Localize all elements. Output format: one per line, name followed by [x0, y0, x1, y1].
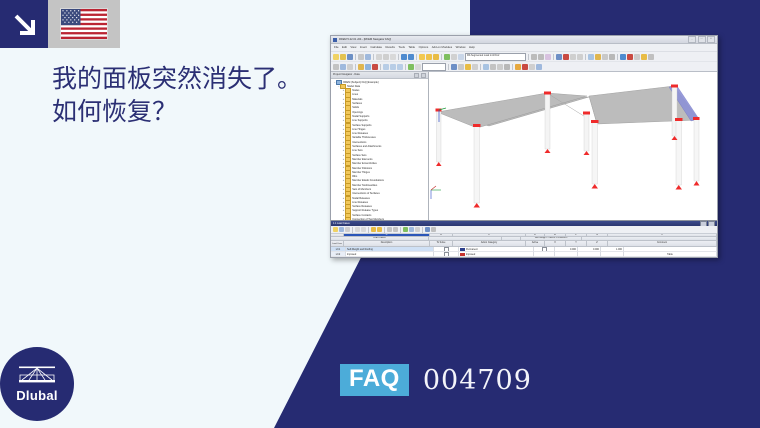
- app-icon: [333, 38, 337, 42]
- cell-comment[interactable]: Table: [624, 252, 717, 257]
- menu-item-insert[interactable]: Insert: [360, 46, 367, 49]
- headline-line-2: 如何恢复？: [52, 95, 352, 128]
- toolbar-separator: [416, 54, 417, 60]
- project-navigator-panel[interactable]: Project Navigator - Data − RFEM (Subject…: [331, 72, 429, 220]
- layers-icon[interactable]: [602, 54, 608, 60]
- arrow-down-right-icon: [0, 0, 48, 48]
- rfem-application-window[interactable]: RFEM 5.22.01 x64 - [RFEM Navigator FAQ] …: [330, 35, 718, 258]
- member-icon[interactable]: [365, 64, 371, 70]
- table-new-row-icon[interactable]: [333, 227, 338, 232]
- load-case-selector[interactable]: [422, 63, 446, 71]
- model-view-3d[interactable]: [429, 72, 717, 220]
- table-redo-icon[interactable]: [393, 227, 398, 232]
- page-title: 我的面板突然消失了。 如何恢复？: [52, 62, 352, 128]
- checkbox-icon[interactable]: [444, 252, 449, 257]
- workspace: Project Navigator - Data − RFEM (Subject…: [331, 72, 717, 220]
- grid-toggle-icon[interactable]: [588, 54, 594, 60]
- toolbar-separator: [617, 54, 618, 60]
- table-export-excel-icon[interactable]: [409, 227, 414, 232]
- menu-bar[interactable]: File Edit View Insert Calculate Results …: [331, 44, 717, 52]
- table-row[interactable]: LC2 Imposed Imposed Table: [331, 252, 717, 257]
- copy-icon[interactable]: [383, 54, 389, 60]
- dimension-icon[interactable]: [627, 54, 633, 60]
- navigator-tree[interactable]: − RFEM (Subject) FAQ [Example] − Model D…: [331, 79, 428, 220]
- max-min-icon[interactable]: [522, 64, 528, 70]
- tree-item-label: Surface Sets: [352, 154, 366, 157]
- tree-item-label: Member Hinges: [352, 171, 370, 174]
- tree-item-label: Nodal Releases: [352, 197, 370, 200]
- tree-item-label: Line Sets: [352, 149, 362, 152]
- toolbar-separator: [368, 227, 369, 233]
- menu-item-addon-modules[interactable]: Add-on Modules: [432, 46, 452, 49]
- deformation-icon[interactable]: [451, 64, 457, 70]
- close-button[interactable]: ✕: [707, 36, 715, 43]
- toolbar-separator: [355, 64, 356, 70]
- front-view-icon[interactable]: [570, 54, 576, 60]
- cell-action-category-label: Permanent: [466, 248, 478, 251]
- toolbar-separator: [384, 227, 385, 233]
- cell-y[interactable]: [578, 252, 601, 257]
- load-line-icon[interactable]: [390, 64, 396, 70]
- toolbar-separator: [512, 64, 513, 70]
- navigator-close-icon[interactable]: [421, 73, 426, 78]
- menu-item-view[interactable]: View: [350, 46, 356, 49]
- cell-action-category-label: Imposed: [466, 253, 475, 256]
- node-icon[interactable]: [340, 64, 346, 70]
- tree-item-label: Member Eccentricities: [352, 162, 377, 165]
- select-icon[interactable]: [333, 64, 339, 70]
- toolbar-separator: [480, 64, 481, 70]
- tree-item-label: Surfaces: [352, 102, 362, 105]
- minimize-button[interactable]: _: [688, 36, 696, 43]
- tree-item-label: Surface Supports: [352, 124, 371, 127]
- tree-item-label: Member Divisions: [352, 167, 372, 170]
- export-icon[interactable]: [536, 64, 542, 70]
- toolbar-separator: [352, 227, 353, 233]
- cell-to-solve[interactable]: [434, 252, 459, 257]
- language-flag-box: [48, 0, 120, 48]
- zoom-in-icon[interactable]: [531, 54, 537, 60]
- faq-number: 004709: [423, 365, 532, 396]
- maximize-button[interactable]: □: [698, 36, 706, 43]
- tree-item-label: Connection of Two Members: [352, 218, 384, 220]
- toolbar-separator: [405, 64, 406, 70]
- table-edit-icon[interactable]: [339, 227, 344, 232]
- toolbar-separator: [400, 227, 401, 233]
- toolbar-separator: [398, 54, 399, 60]
- stress-icon[interactable]: [465, 64, 471, 70]
- new-file-icon[interactable]: [333, 54, 339, 60]
- load-nodal-icon[interactable]: [383, 64, 389, 70]
- table-undo-icon[interactable]: [387, 227, 392, 232]
- paste-icon[interactable]: [390, 54, 396, 60]
- toolbar-separator: [422, 227, 423, 233]
- checkbox-checked-icon[interactable]: [444, 247, 449, 252]
- result-filter-icon[interactable]: [497, 64, 503, 70]
- cell-active[interactable]: [534, 252, 555, 257]
- tree-root-label: RFEM (Subject) FAQ [Example]: [343, 81, 378, 84]
- toolbar-separator: [373, 54, 374, 60]
- table-paste-icon[interactable]: [361, 227, 366, 232]
- checkbox-checked-icon[interactable]: [542, 247, 547, 252]
- line-icon[interactable]: [347, 64, 353, 70]
- tree-item-label: Solids: [352, 106, 359, 109]
- tree-item-label: Nodal Supports: [352, 115, 369, 118]
- table-panel-title: 1.1 Load Cases: [333, 222, 350, 225]
- save-icon[interactable]: [347, 54, 353, 60]
- faq-block: FAQ 004709: [340, 364, 532, 396]
- model-geometry: [429, 72, 717, 220]
- toolbar-separator: [553, 54, 554, 60]
- printout-report-icon[interactable]: [641, 54, 647, 60]
- navigator-controls[interactable]: [414, 73, 426, 78]
- table-toolbar[interactable]: [331, 226, 717, 234]
- generate-mesh-icon[interactable]: [408, 64, 414, 70]
- calculate-icon[interactable]: [444, 54, 450, 60]
- cut-icon[interactable]: [376, 54, 382, 60]
- surface-icon[interactable]: [358, 64, 364, 70]
- tree-item-label: Ribs: [352, 175, 357, 178]
- menu-item-help[interactable]: Help: [469, 46, 475, 49]
- dlubal-truss-logo-icon: [17, 365, 57, 387]
- toolbar-separator: [380, 64, 381, 70]
- mesh-settings-icon[interactable]: [415, 64, 421, 70]
- pan-icon[interactable]: [545, 54, 551, 60]
- table-filter-icon[interactable]: [371, 227, 376, 232]
- navigator-header: Project Navigator - Data: [331, 72, 428, 79]
- toolbar-separator: [441, 54, 442, 60]
- wireframe-icon[interactable]: [426, 54, 432, 60]
- tree-item-label: Surface Releases: [352, 205, 372, 208]
- dlubal-logo: Dlubal: [0, 347, 74, 421]
- corner-accent-box: [0, 0, 48, 48]
- open-file-icon[interactable]: [340, 54, 346, 60]
- table-panel[interactable]: 1.1 Load Cases: [331, 220, 717, 258]
- menu-item-results[interactable]: Results: [386, 46, 395, 49]
- top-view-icon[interactable]: [577, 54, 583, 60]
- category-color-swatch: [460, 248, 465, 251]
- tree-item-label: Nodes: [352, 89, 359, 92]
- comment-icon[interactable]: [634, 54, 640, 60]
- toolbar-separator: [448, 64, 449, 70]
- toolbar-separator: [528, 54, 529, 60]
- help-icon[interactable]: [648, 54, 654, 60]
- menu-item-calculate[interactable]: Calculate: [370, 46, 382, 49]
- cell-x[interactable]: [555, 252, 578, 257]
- tree-item-label: Line Supports: [352, 119, 367, 122]
- print-preview-icon[interactable]: [365, 54, 371, 60]
- tree-item-label: Line Hinges: [352, 128, 365, 131]
- menu-item-edit[interactable]: Edit: [342, 46, 347, 49]
- menu-item-table[interactable]: Table: [408, 46, 415, 49]
- table-help-icon[interactable]: [431, 227, 436, 232]
- window-titlebar: RFEM 5.22.01 x64 - [RFEM Navigator FAQ] …: [331, 36, 717, 44]
- result-diagram-icon[interactable]: [483, 64, 489, 70]
- table-copy-icon[interactable]: [355, 227, 360, 232]
- cell-description[interactable]: Imposed: [346, 252, 434, 257]
- tree-item-label: Sets of Members: [352, 188, 371, 191]
- contact-stress-icon[interactable]: [472, 64, 478, 70]
- tree-item-label: Intersections of Surfaces: [352, 192, 380, 195]
- print-icon[interactable]: [358, 54, 364, 60]
- snap-toggle-icon[interactable]: [595, 54, 601, 60]
- redo-icon[interactable]: [408, 54, 414, 60]
- cell-action-category[interactable]: Imposed: [459, 252, 534, 257]
- table-settings-icon[interactable]: [425, 227, 430, 232]
- tree-item-label: Openings: [352, 111, 363, 114]
- menu-item-window[interactable]: Window: [456, 46, 466, 49]
- tree-item-label: Member Nonlinearities: [352, 184, 377, 187]
- internal-forces-icon[interactable]: [458, 64, 464, 70]
- menu-item-options[interactable]: Options: [419, 46, 429, 49]
- load-case-icon[interactable]: [458, 54, 464, 60]
- load-cases-grid[interactable]: A B C D E F G H Load Cases Self-Weight -…: [331, 234, 717, 258]
- table-print-icon[interactable]: [415, 227, 420, 232]
- cell-z[interactable]: [601, 252, 624, 257]
- table-icon[interactable]: [529, 64, 535, 70]
- solid-view-icon[interactable]: [433, 54, 439, 60]
- global-axis-indicator: [431, 186, 441, 199]
- section-icon[interactable]: [504, 64, 510, 70]
- toolbar-primary[interactable]: RF-Segmented Load in kN/m2: [331, 52, 717, 62]
- faq-badge: FAQ: [340, 364, 409, 396]
- result-value-icon[interactable]: [490, 64, 496, 70]
- slide-canvas: 我的面板突然消失了。 如何恢复？: [0, 0, 760, 428]
- load-case-combo[interactable]: RF-Segmented Load in kN/m2: [465, 53, 526, 61]
- rotate-icon[interactable]: [556, 54, 562, 60]
- headline-line-1: 我的面板突然消失了。: [52, 62, 352, 95]
- tree-item-label: Variable Thicknesses: [352, 136, 376, 139]
- window-title: RFEM 5.22.01 x64 - [RFEM Navigator FAQ]: [339, 38, 391, 41]
- cell-load-case-no[interactable]: LC2: [331, 252, 346, 257]
- measure-icon[interactable]: [620, 54, 626, 60]
- navigator-title: Project Navigator - Data: [333, 73, 360, 76]
- category-color-swatch: [460, 253, 465, 256]
- menu-item-file[interactable]: File: [334, 46, 339, 49]
- tree-item-label: Lines: [352, 93, 358, 96]
- tree-item-label: Line Releases: [352, 201, 368, 204]
- tree-item-label: Line Releases: [352, 132, 368, 135]
- tree-item-label: Member Elements: [352, 158, 372, 161]
- tree-item-label: Surface Contacts: [352, 214, 371, 217]
- render-icon[interactable]: [419, 54, 425, 60]
- table-calculate-icon[interactable]: [403, 227, 408, 232]
- animation-icon[interactable]: [515, 64, 521, 70]
- toolbar-secondary[interactable]: [331, 62, 717, 72]
- load-surface-icon[interactable]: [397, 64, 403, 70]
- window-controls[interactable]: _ □ ✕: [688, 36, 715, 43]
- toolbar-separator: [355, 54, 356, 60]
- table-sort-icon[interactable]: [377, 227, 382, 232]
- tree-item-label: Surfaces and Attachments: [352, 145, 381, 148]
- navigator-pin-icon[interactable]: [414, 73, 419, 78]
- zoom-out-icon[interactable]: [538, 54, 544, 60]
- us-flag-icon: [61, 9, 107, 39]
- tree-item-label: Materials: [352, 98, 362, 101]
- folder-icon: [345, 217, 351, 220]
- menu-item-tools[interactable]: Tools: [398, 46, 405, 49]
- isometric-view-icon[interactable]: [563, 54, 569, 60]
- tree-item-label: Support Release Types: [352, 209, 378, 212]
- table-delete-icon[interactable]: [345, 227, 350, 232]
- toolbar-separator: [585, 54, 586, 60]
- support-icon[interactable]: [372, 64, 378, 70]
- tree-item[interactable]: +Connection of Two Members: [332, 218, 428, 221]
- undo-icon[interactable]: [401, 54, 407, 60]
- visibility-icon[interactable]: [609, 54, 615, 60]
- dlubal-logo-text: Dlubal: [16, 388, 58, 403]
- results-icon[interactable]: [451, 54, 457, 60]
- tree-item-label: Intersections: [352, 141, 366, 144]
- tree-item-label: Member Elastic Foundations: [352, 179, 384, 182]
